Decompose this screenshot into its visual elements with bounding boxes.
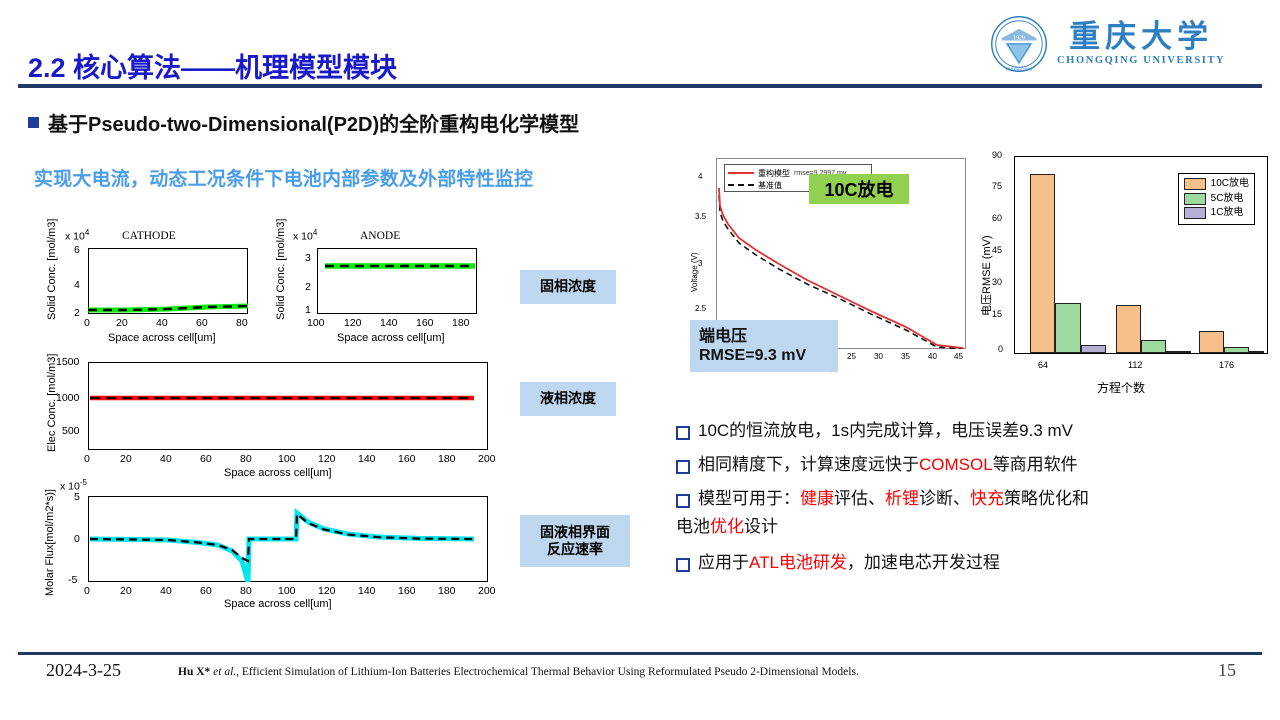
flux-xtick-120: 120 (318, 585, 336, 597)
flux-xtick-40: 40 (160, 585, 172, 597)
hollow-square-bullet-icon (676, 426, 690, 440)
flux-xtick-200: 200 (478, 585, 496, 597)
conclusions-list: 10C的恒流放电，1s内完成计算，电压误差9.3 mV 相同精度下，计算速度远快… (676, 420, 1276, 586)
square-bullet-icon (28, 117, 39, 128)
footer-date: 2024-3-25 (46, 660, 121, 681)
page-title: 2.2 核心算法——机理模型模块 (28, 46, 397, 85)
elec-xtick-160: 160 (398, 453, 416, 465)
flux-xtick-160: 160 (398, 585, 416, 597)
legend-line-red-icon (728, 172, 754, 174)
elec-xtick-120: 120 (318, 453, 336, 465)
bar-xlabel: 方程个数 (966, 379, 1276, 396)
voltage-ytick-4: 4 (698, 172, 702, 181)
label-interface-line1: 固液相界面 (540, 524, 610, 542)
legend-label-1c: 1C放电 (1211, 206, 1244, 221)
label-solid-concentration: 固相浓度 (520, 270, 616, 304)
flux-ytick-neg5: -5 (68, 574, 77, 586)
cathode-xtick-20: 20 (116, 317, 128, 329)
legend-swatch-10c-icon (1184, 178, 1206, 190)
voltage-ytick-2-5: 2.5 (695, 304, 706, 313)
list-item: 10C的恒流放电，1s内完成计算，电压误差9.3 mV (676, 420, 1276, 443)
label-solid-text: 固相浓度 (540, 278, 596, 296)
bullet-3-text-f: 快充 (970, 489, 1004, 508)
anode-ylabel: Solid Conc. [mol/m3] (275, 219, 287, 320)
voltage-ylabel: Voltage (V) (690, 252, 699, 292)
cathode-ylabel: Solid Conc. [mol/m3] (46, 219, 58, 320)
elec-xtick-0: 0 (84, 453, 90, 465)
legend-label-10c: 10C放电 (1211, 177, 1249, 192)
elec-ytick-1000: 1000 (56, 392, 79, 404)
chart-terminal-voltage: 4 3.5 3 2.5 2 Voltage (V) 0 5 10 15 20 2… (684, 152, 974, 387)
citation-author: Hu X* (178, 666, 210, 678)
anode-ytick-3: 3 (305, 252, 311, 264)
bar-ytick-0: 0 (998, 344, 1003, 354)
chart-electrolyte-concentration: 1500 1000 500 0 20 40 60 80 100 120 140 … (30, 352, 500, 482)
bullet-3-text-b: 健康 (800, 489, 834, 508)
bullet-1-text: 10C的恒流放电，1s内完成计算，电压误差9.3 mV (698, 421, 1073, 440)
list-item: 应用于ATL电池研发，加速电芯开发过程 (676, 552, 1276, 575)
logo-chinese-name: 重庆大学 (1069, 22, 1213, 53)
cathode-xtick-60: 60 (196, 317, 208, 329)
legend-row-5c: 5C放电 (1184, 192, 1249, 207)
bar-ytick-90: 90 (992, 150, 1002, 160)
bar-64-5c (1055, 303, 1080, 353)
cathode-data-line (88, 248, 248, 314)
anode-ytick-1: 1 (305, 304, 311, 316)
label-liquid-text: 液相浓度 (540, 390, 596, 408)
bar-112-5c (1141, 340, 1166, 353)
bullet-3-text-e: 诊断、 (919, 489, 970, 508)
label-interface-reaction-rate: 固液相界面 反应速率 (520, 515, 630, 567)
voltage-xtick-25: 25 (847, 352, 856, 361)
anode-data-line (317, 248, 477, 314)
voltage-ytick-3-5: 3.5 (695, 212, 706, 221)
bullet-3-cont-a: 电池 (676, 517, 710, 536)
svg-text:1929: 1929 (1013, 35, 1025, 41)
cathode-title: CATHODE (122, 230, 176, 242)
anode-xlabel: Space across cell[um] (337, 332, 445, 344)
elec-xtick-60: 60 (200, 453, 212, 465)
bar-64-1c (1081, 345, 1106, 353)
bar-64-10c (1030, 174, 1055, 353)
bar-ylabel: 电压RMSE (mV) (978, 235, 994, 316)
anode-ytick-2: 2 (305, 281, 311, 293)
elec-ytick-1500: 1500 (56, 356, 79, 368)
voltage-xtick-30: 30 (874, 352, 883, 361)
flux-y-exponent-sup: -5 (80, 478, 87, 487)
hollow-square-bullet-icon (676, 558, 690, 572)
anode-xtick-140: 140 (380, 317, 398, 329)
anode-y-exponent-sup: 4 (313, 228, 317, 237)
legend-baseline-label: 基准值 (758, 180, 782, 191)
subtitle-line: 实现大电流，动态工况条件下电池内部参数及外部特性监控 (34, 164, 533, 191)
flux-xtick-100: 100 (278, 585, 296, 597)
cathode-xtick-40: 40 (156, 317, 168, 329)
legend-swatch-5c-icon (1184, 193, 1206, 205)
cathode-y-exponent: x 10 (65, 231, 85, 243)
legend-label-5c: 5C放电 (1211, 192, 1244, 207)
flux-ytick-5: 5 (74, 491, 80, 503)
anode-y-exponent: x 10 (293, 231, 313, 243)
bullet-4-text-c: ，加速电芯开发过程 (847, 553, 1000, 572)
logo-english-name: CHONGQING UNIVERSITY (1057, 55, 1225, 66)
voltage-xtick-45: 45 (954, 352, 963, 361)
bullet-3-text-a: 模型可用于： (698, 489, 800, 508)
bar-xtick-112: 112 (1128, 360, 1142, 370)
label-interface-line2: 反应速率 (547, 541, 603, 559)
chart-cathode: CATHODE x 104 2 4 6 0 20 40 60 80 Space … (30, 222, 260, 347)
legend-line-dashed-icon (728, 184, 754, 186)
bar-chart-legend: 10C放电 5C放电 1C放电 (1178, 173, 1255, 225)
anode-xtick-120: 120 (344, 317, 362, 329)
flux-ylabel: Molar Flux[mol/m2*s)] (44, 489, 56, 596)
elec-xtick-200: 200 (478, 453, 496, 465)
cathode-xlabel: Space across cell[um] (108, 332, 216, 344)
footer-divider (18, 652, 1262, 655)
bullet-4-text-b: ATL电池研发 (749, 553, 847, 572)
elec-ytick-500: 500 (62, 425, 80, 437)
hollow-square-bullet-icon (676, 460, 690, 474)
chart-anode: ANODE x 104 1 2 3 100 120 140 160 180 Sp… (255, 222, 490, 347)
slide-root: 2.2 核心算法——机理模型模块 1929 CHONGQING 重庆大学 CHO… (0, 0, 1280, 720)
svg-text:CHONGQING: CHONGQING (1006, 67, 1032, 72)
anode-xtick-160: 160 (416, 317, 434, 329)
elec-xtick-180: 180 (438, 453, 456, 465)
cathode-y-exponent-sup: 4 (85, 228, 89, 237)
elec-data-line (88, 362, 488, 450)
bullet-3-cont-b: 优化 (710, 517, 744, 536)
bar-xtick-64: 64 (1038, 360, 1048, 370)
bar-xtick-176: 176 (1219, 360, 1234, 370)
badge-10c-discharge: 10C放电 (809, 174, 909, 204)
voltage-xtick-35: 35 (901, 352, 910, 361)
bullet-2-text-a: 相同精度下，计算速度远快于 (698, 455, 919, 474)
elec-xtick-80: 80 (240, 453, 252, 465)
bullet-3-cont-c: 设计 (744, 517, 778, 536)
bar-176-5c (1224, 347, 1249, 353)
bar-112-1c (1166, 351, 1191, 353)
flux-data-line (88, 496, 488, 582)
flux-xtick-180: 180 (438, 585, 456, 597)
bullet-2-text-c: 等商用软件 (993, 455, 1078, 474)
voltage-xtick-40: 40 (928, 352, 937, 361)
anode-title: ANODE (360, 230, 400, 242)
lead-bullet: 基于Pseudo-two-Dimensional(P2D)的全阶重构电化学模型 (28, 108, 579, 137)
chart-molar-flux: x 10-5 5 0 -5 0 20 40 60 80 100 120 140 … (30, 478, 500, 618)
header-divider (18, 84, 1262, 88)
university-logo: 1929 CHONGQING 重庆大学 CHONGQING UNIVERSITY (990, 8, 1242, 80)
bar-ytick-75: 75 (992, 181, 1002, 191)
bar-ytick-60: 60 (992, 213, 1002, 223)
list-item: 相同精度下，计算速度远快于COMSOL等商用软件 (676, 454, 1276, 477)
elec-xtick-140: 140 (358, 453, 376, 465)
bullet-3-text-d: 析锂 (885, 489, 919, 508)
cathode-ytick-6: 6 (74, 244, 80, 256)
flux-xtick-80: 80 (240, 585, 252, 597)
hollow-square-bullet-icon (676, 494, 690, 508)
logo-wordmark: 重庆大学 CHONGQING UNIVERSITY (1057, 22, 1225, 66)
badge-rmse-line2: RMSE=9.3 mV (699, 346, 838, 365)
elec-ylabel: Elec Conc. [mol/m3] (46, 354, 58, 452)
footer-citation: Hu X* et al., Efficient Simulation of Li… (178, 666, 859, 678)
list-item: 模型可用于：健康评估、析锂诊断、快充策略优化和 (676, 488, 1276, 511)
lead-bullet-text: 基于Pseudo-two-Dimensional(P2D)的全阶重构电化学模型 (48, 108, 579, 137)
bullet-3-text-c: 评估、 (834, 489, 885, 508)
chart-voltage-rmse-bar: 10C放电 5C放电 1C放电 90 75 60 45 30 15 0 电压RM… (966, 148, 1276, 398)
legend-swatch-1c-icon (1184, 207, 1206, 219)
label-liquid-concentration: 液相浓度 (520, 382, 616, 416)
footer-page-number: 15 (1218, 660, 1236, 681)
badge-terminal-voltage-rmse: 端电压 RMSE=9.3 mV (690, 320, 838, 372)
badge-rmse-line1: 端电压 (699, 327, 838, 346)
cathode-xtick-0: 0 (84, 317, 90, 329)
citation-rest: , Efficient Simulation of Lithium-Ion Ba… (236, 666, 859, 678)
cathode-ytick-4: 4 (74, 279, 80, 291)
anode-xtick-180: 180 (452, 317, 470, 329)
elec-xtick-40: 40 (160, 453, 172, 465)
bullet-3-text-g: 策略优化和 (1004, 489, 1089, 508)
cathode-ytick-2: 2 (74, 307, 80, 319)
bar-112-10c (1116, 305, 1141, 353)
university-seal-icon: 1929 CHONGQING (990, 15, 1048, 73)
bar-176-1c (1249, 351, 1264, 353)
elec-xtick-20: 20 (120, 453, 132, 465)
anode-xtick-100: 100 (307, 317, 325, 329)
list-item-continuation: 电池优化设计 (676, 516, 1276, 539)
citation-etal: et al. (213, 666, 236, 678)
legend-row-10c: 10C放电 (1184, 177, 1249, 192)
legend-row-1c: 1C放电 (1184, 206, 1249, 221)
elec-xtick-100: 100 (278, 453, 296, 465)
legend-model-label: 重构模型 (758, 168, 790, 179)
bullet-2-text-b: COMSOL (919, 455, 993, 474)
flux-xlabel: Space across cell[um] (224, 598, 332, 610)
flux-xtick-20: 20 (120, 585, 132, 597)
bar-plot-frame: 10C放电 5C放电 1C放电 (1014, 156, 1268, 354)
flux-ytick-0: 0 (74, 533, 80, 545)
bar-176-10c (1199, 331, 1224, 353)
cathode-xtick-80: 80 (236, 317, 248, 329)
bullet-4-text-a: 应用于 (698, 553, 749, 572)
flux-xtick-60: 60 (200, 585, 212, 597)
flux-xtick-0: 0 (84, 585, 90, 597)
flux-xtick-140: 140 (358, 585, 376, 597)
